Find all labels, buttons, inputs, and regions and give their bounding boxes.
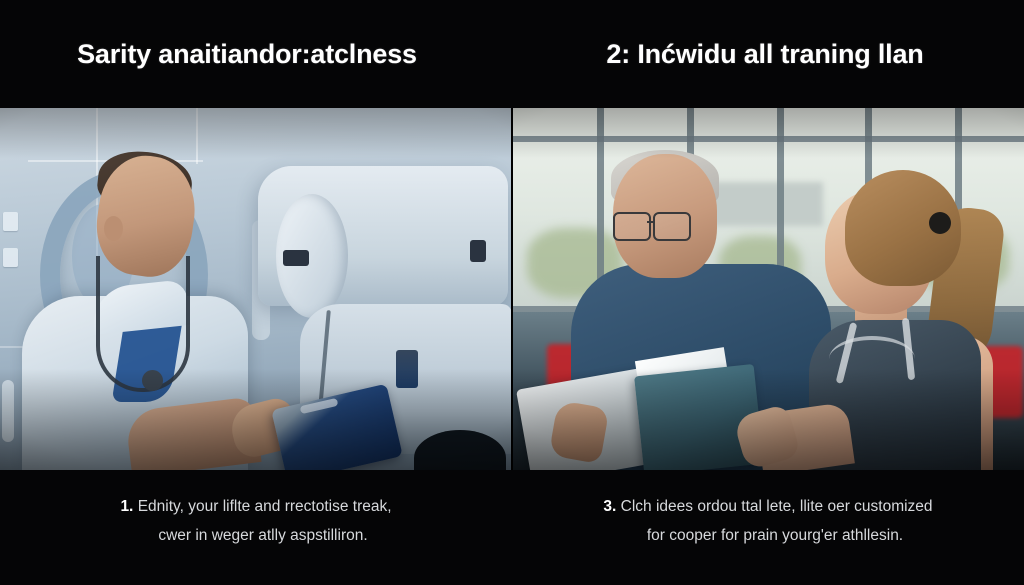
eyeglasses-bridge	[647, 221, 655, 223]
gym-scene	[513, 108, 1024, 470]
eyeglasses-icon	[613, 212, 651, 241]
panel-title-right: 2: Inćwidu all traning llan	[512, 39, 1024, 70]
panel-image-left	[0, 108, 511, 470]
caption-column-left: 1. Ednity, your liflte and rrectotise tr…	[0, 470, 512, 585]
scanner-display-icon	[470, 240, 486, 262]
image-strip	[0, 108, 1024, 470]
caption-line-first: 3. Clch idees ordou ttal lete, llite oer…	[512, 492, 1024, 521]
caption-column-right: 3. Clch idees ordou ttal lete, llite oer…	[512, 470, 1024, 585]
header-column-left: Sarity anaitiandor:atclness	[0, 0, 512, 108]
stethoscope-icon	[96, 256, 190, 392]
clinic-scene	[0, 108, 511, 470]
door-handle-icon	[2, 380, 14, 442]
panel-caption-right: 3. Clch idees ordou ttal lete, llite oer…	[512, 492, 1024, 550]
scanner-display-icon	[396, 350, 418, 388]
wall-outlet-icon	[3, 212, 18, 231]
window-mullion	[513, 136, 1024, 142]
caption-number: 3.	[603, 498, 616, 515]
panel-caption-left: 1. Ednity, your liflte and rrectotise tr…	[0, 492, 512, 550]
header-band: Sarity anaitiandor:atclness 2: Inćwidu a…	[0, 0, 1024, 108]
caption-text-line1: Ednity, your liflte and rrectotise treak…	[138, 498, 392, 515]
panel-image-right	[513, 108, 1024, 470]
header-column-right: 2: Inćwidu all traning llan	[512, 0, 1024, 108]
eyeglasses-icon	[653, 212, 691, 241]
hair-tie-icon	[929, 212, 951, 234]
comparison-poster: Sarity anaitiandor:atclness 2: Inćwidu a…	[0, 0, 1024, 585]
caption-text-line1: Clch idees ordou ttal lete, llite oer cu…	[621, 498, 933, 515]
caption-band: 1. Ednity, your liflte and rrectotise tr…	[0, 470, 1024, 585]
caption-text-line2: for cooper for prain yourg'er athllesin.	[512, 521, 1024, 550]
wall-seam-icon	[196, 108, 198, 164]
stethoscope-bell-icon	[142, 370, 163, 391]
caption-line-first: 1. Ednity, your liflte and rrectotise tr…	[0, 492, 512, 521]
doctor-tablet	[271, 384, 403, 470]
wall-outlet-icon	[3, 248, 18, 267]
caption-number: 1.	[120, 498, 133, 515]
panel-title-left: Sarity anaitiandor:atclness	[0, 39, 512, 70]
scanner-display-icon	[283, 250, 309, 266]
doctor-ear	[104, 216, 123, 241]
caption-text-line2: cwer in weger atlly aspstilliron.	[0, 521, 512, 550]
